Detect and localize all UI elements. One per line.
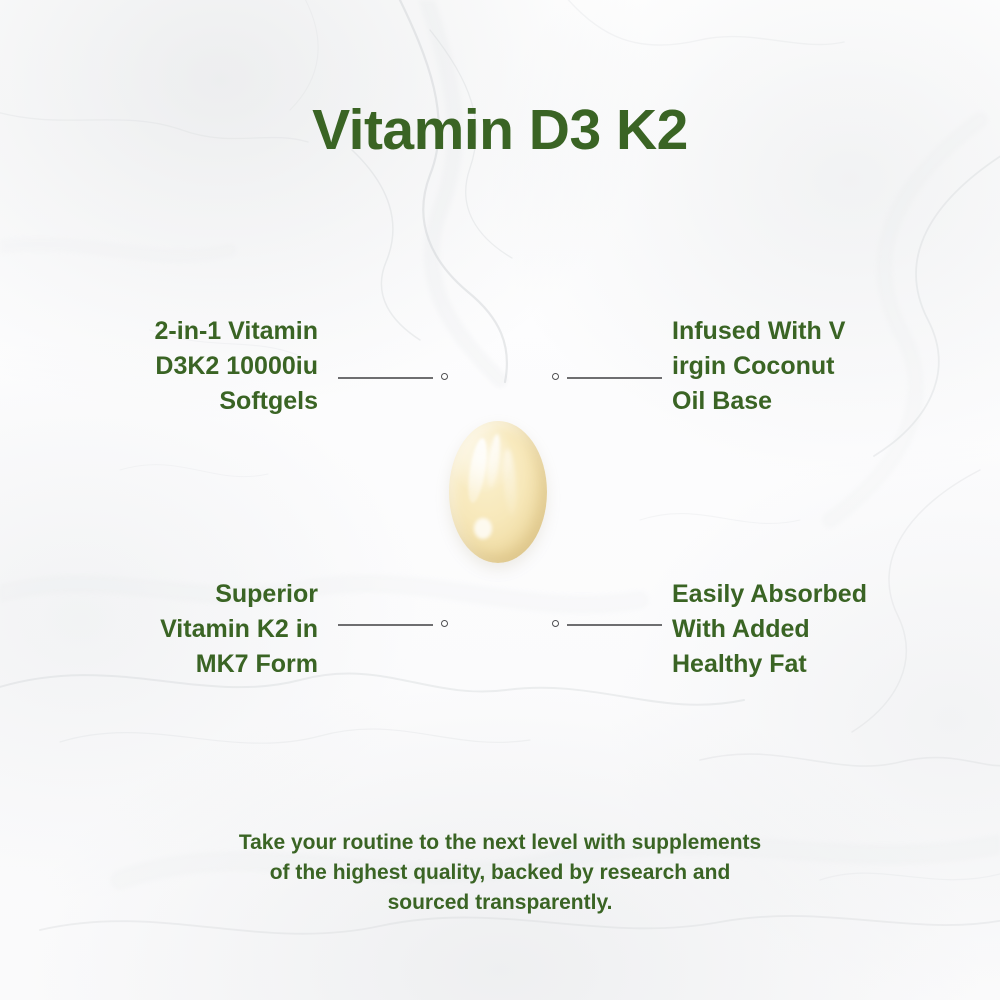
feature-bottom-right-line-2: With Added: [672, 612, 940, 647]
softgel-capsule-image: [449, 421, 547, 563]
capsule-highlight-icon: [465, 437, 490, 504]
feature-top-right-line-1: Infused With V: [672, 314, 940, 349]
softgel-capsule-body: [449, 421, 547, 563]
connector-dot-icon: [552, 620, 559, 627]
connector-dot-icon: [441, 373, 448, 380]
connector-bottom-left: [338, 618, 448, 632]
feature-top-right: Infused With V irgin Coconut Oil Base: [672, 314, 940, 419]
footer-caption-line-1: Take your routine to the next level with…: [150, 828, 850, 858]
page-title: Vitamin D3 K2: [0, 98, 1000, 162]
feature-bottom-left-line-2: Vitamin K2 in: [60, 612, 318, 647]
feature-bottom-right: Easily Absorbed With Added Healthy Fat: [672, 577, 940, 682]
capsule-highlight-icon: [486, 433, 502, 488]
footer-caption: Take your routine to the next level with…: [150, 828, 850, 918]
feature-top-right-line-2: irgin Coconut: [672, 349, 940, 384]
feature-top-left-line-1: 2-in-1 Vitamin: [60, 314, 318, 349]
feature-top-left: 2-in-1 Vitamin D3K2 10000iu Softgels: [60, 314, 318, 419]
feature-top-left-line-2: D3K2 10000iu: [60, 349, 318, 384]
connector-dot-icon: [441, 620, 448, 627]
connector-top-right: [552, 371, 662, 385]
product-infographic: Vitamin D3 K2 2-in-1 Vitamin D3K2 10000i…: [0, 0, 1000, 1000]
feature-top-left-line-3: Softgels: [60, 384, 318, 419]
feature-top-right-line-3: Oil Base: [672, 384, 940, 419]
feature-bottom-right-line-1: Easily Absorbed: [672, 577, 940, 612]
connector-line: [567, 624, 662, 626]
connector-top-left: [338, 371, 448, 385]
footer-caption-line-3: sourced transparently.: [150, 888, 850, 918]
connector-line: [338, 624, 433, 626]
feature-bottom-right-line-3: Healthy Fat: [672, 647, 940, 682]
connector-bottom-right: [552, 618, 662, 632]
feature-bottom-left-line-3: MK7 Form: [60, 647, 318, 682]
feature-bottom-left: Superior Vitamin K2 in MK7 Form: [60, 577, 318, 682]
capsule-highlight-icon: [502, 449, 518, 518]
feature-bottom-left-line-1: Superior: [60, 577, 318, 612]
capsule-highlight-icon: [474, 518, 493, 539]
connector-line: [567, 377, 662, 379]
connector-dot-icon: [552, 373, 559, 380]
footer-caption-line-2: of the highest quality, backed by resear…: [150, 858, 850, 888]
connector-line: [338, 377, 433, 379]
